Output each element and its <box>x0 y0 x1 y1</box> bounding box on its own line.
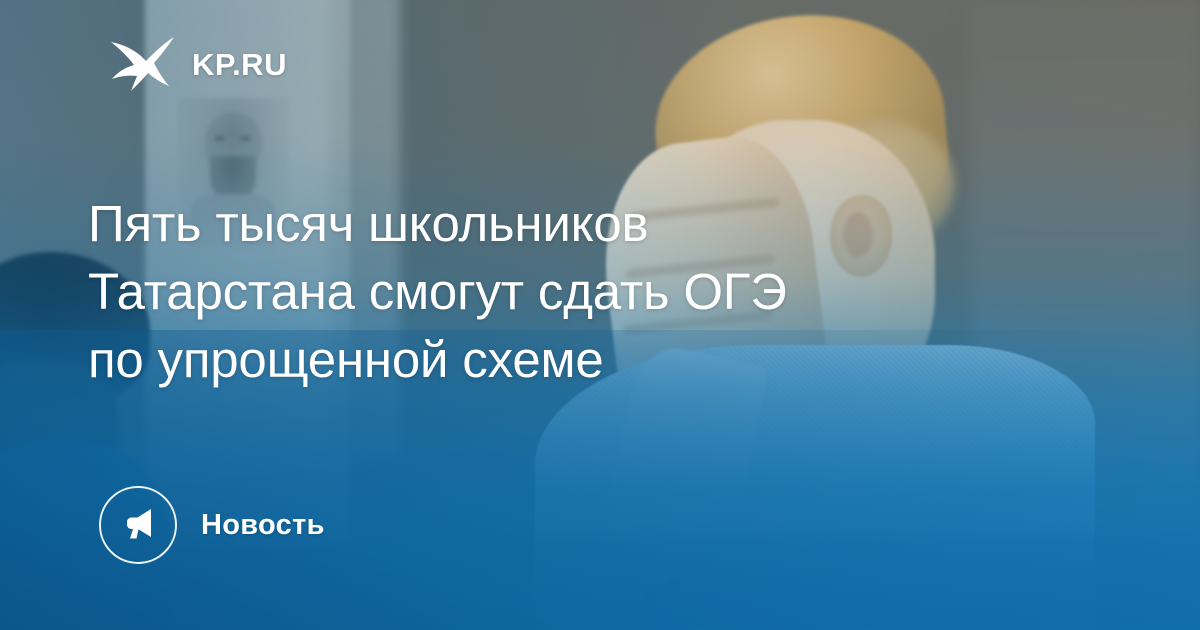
headline-line-2: Татарстана смогут сдать ОГЭ <box>88 258 958 326</box>
brand-name: KP.RU <box>192 47 287 83</box>
megaphone-icon-circle <box>99 486 177 564</box>
status-badge[interactable]: Новость <box>99 486 325 564</box>
news-share-card: KP.RU Пять тысяч школьников Татарстана с… <box>0 0 1200 630</box>
headline-line-3: по упрощенной схеме <box>88 326 958 394</box>
badge-label: Новость <box>201 509 325 542</box>
brand-logo[interactable]: KP.RU <box>108 34 287 96</box>
card-content: KP.RU Пять тысяч школьников Татарстана с… <box>0 0 1200 630</box>
megaphone-icon <box>118 503 158 548</box>
swallow-bird-icon <box>108 34 176 96</box>
page-title: Пять тысяч школьников Татарстана смогут … <box>88 190 958 394</box>
headline-line-1: Пять тысяч школьников <box>88 190 958 258</box>
